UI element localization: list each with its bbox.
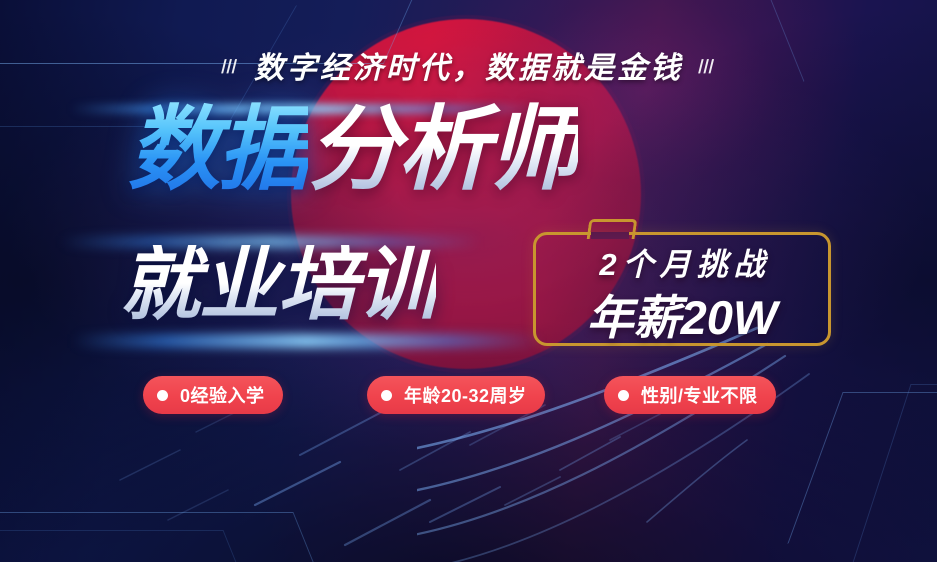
feature-pill-label: 0经验入学 bbox=[180, 382, 265, 408]
feature-pill-label: 性别/专业不限 bbox=[641, 382, 758, 408]
bullet-dot-icon bbox=[381, 390, 392, 401]
headline-primary: 数据分析师 bbox=[128, 104, 578, 196]
feature-pill[interactable]: 性别/专业不限 bbox=[604, 376, 776, 414]
promo-banner: ||| 数字经济时代，数据就是金钱 ||| 数据分析师 就业培训 2个月挑战 年… bbox=[0, 0, 937, 562]
tagline-left-tick-icon: ||| bbox=[220, 57, 240, 74]
offer-callout-line-1: 2个月挑战 bbox=[536, 239, 828, 284]
feature-pill[interactable]: 年龄20-32周岁 bbox=[367, 376, 545, 414]
feature-pill-list: 0经验入学 年龄20-32周岁 性别/专业不限 bbox=[0, 376, 937, 422]
offer-callout-box: 2个月挑战 年薪20W bbox=[533, 232, 831, 346]
tagline-text: 数字经济时代，数据就是金钱 bbox=[254, 43, 683, 87]
offer-callout-line-2: 年薪20W bbox=[536, 279, 828, 348]
bullet-dot-icon bbox=[157, 390, 168, 401]
tagline: ||| 数字经济时代，数据就是金钱 ||| bbox=[0, 43, 937, 87]
feature-pill[interactable]: 0经验入学 bbox=[143, 376, 283, 414]
headline-primary-rest: 分析师 bbox=[308, 99, 578, 201]
headline-glow-bottom bbox=[72, 334, 542, 348]
feature-pill-label: 年龄20-32周岁 bbox=[404, 382, 527, 408]
tagline-right-tick-icon: ||| bbox=[697, 57, 717, 74]
headline-secondary: 就业培训 bbox=[120, 245, 436, 325]
offer-callout-notch-mask bbox=[591, 232, 629, 239]
headline-primary-highlight: 数据 bbox=[128, 99, 308, 201]
bullet-dot-icon bbox=[618, 390, 629, 401]
